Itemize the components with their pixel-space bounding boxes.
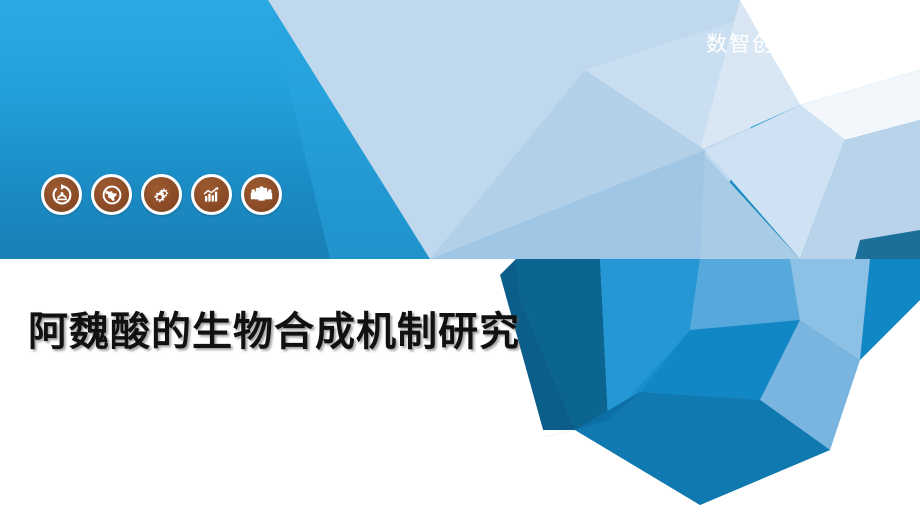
page-title: 阿魏酸的生物合成机制研究 xyxy=(28,299,520,357)
people-group-icon[interactable] xyxy=(241,174,282,215)
icon-badge-row xyxy=(41,174,282,215)
gears-icon[interactable] xyxy=(141,174,182,215)
globe-icon[interactable] xyxy=(91,174,132,215)
slide-canvas: 数智创新 变革未来 xyxy=(0,0,920,518)
recycle-arrows-icon[interactable] xyxy=(41,174,82,215)
low-poly-decoration xyxy=(0,0,920,518)
bar-chart-icon[interactable] xyxy=(191,174,232,215)
slide-tagline: 数智创新 变革未来 xyxy=(706,28,898,58)
